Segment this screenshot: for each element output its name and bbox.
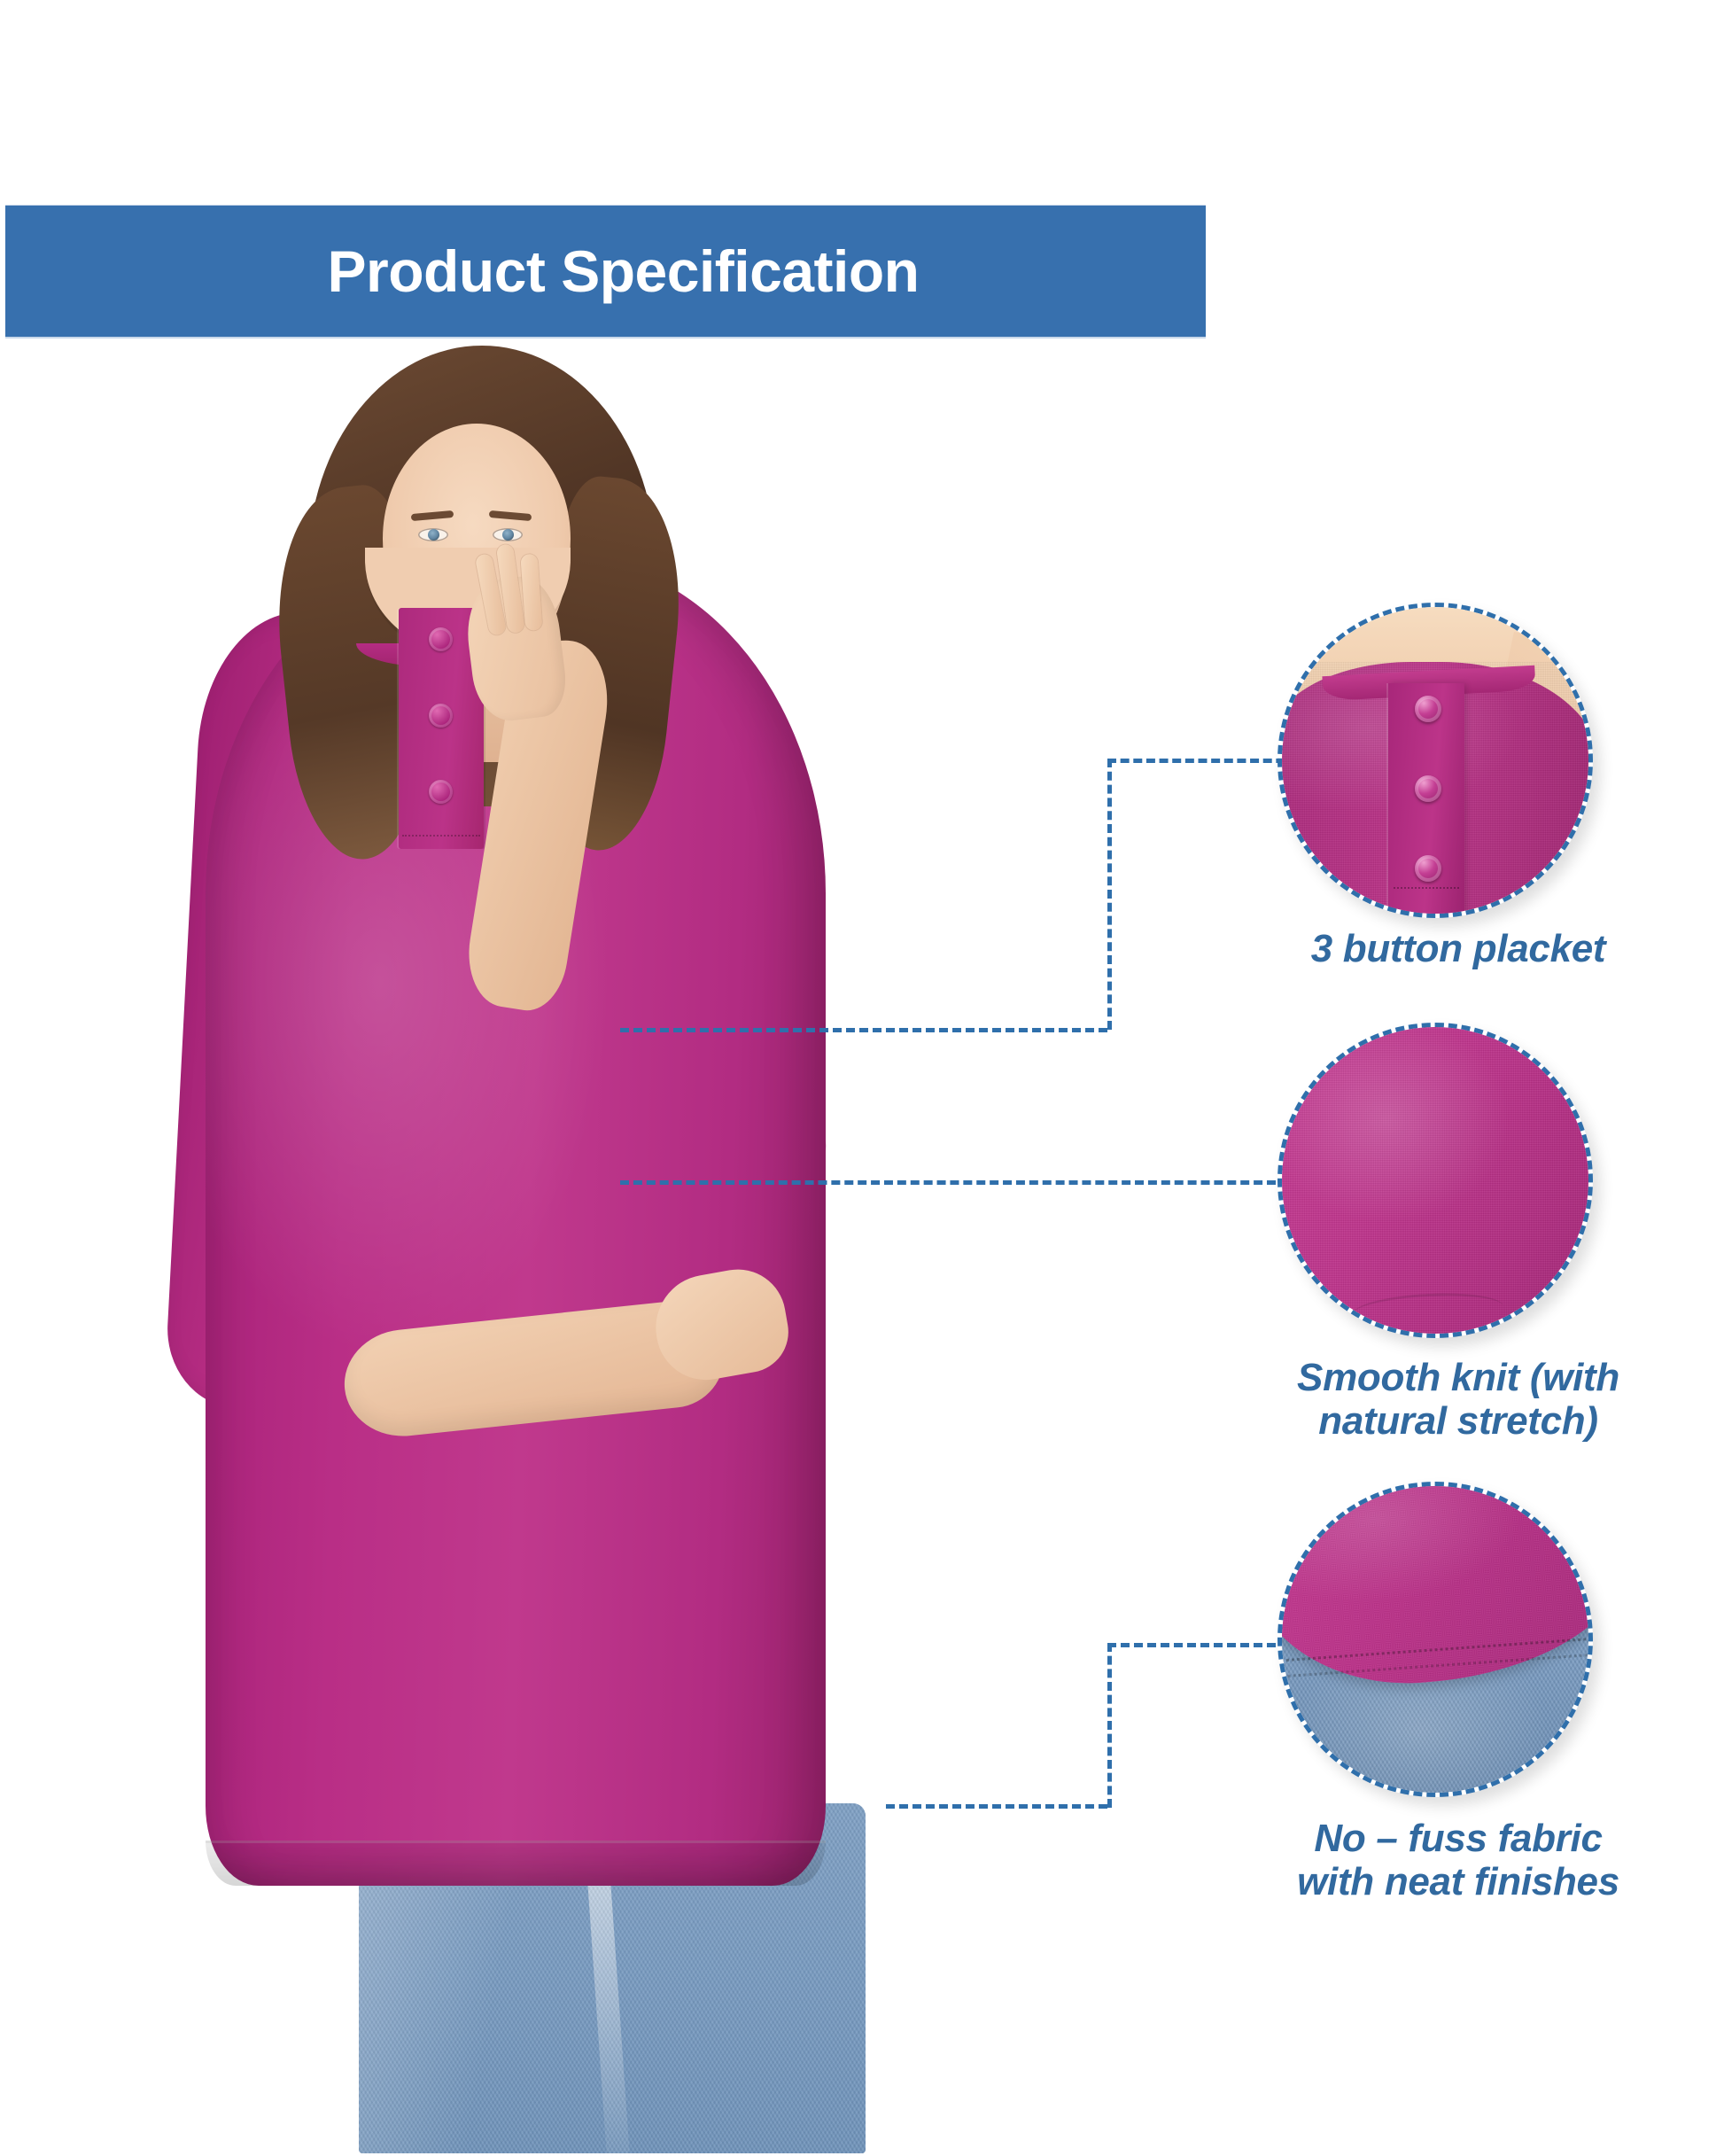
eye-right — [493, 528, 523, 541]
button-2 — [429, 704, 453, 728]
button-1 — [1415, 696, 1441, 722]
leader-line-finish-vertical — [1107, 1643, 1112, 1808]
placket-stitch — [402, 835, 480, 837]
button-3 — [1415, 855, 1441, 882]
leader-line-finish-horizontal-upper — [1107, 1643, 1302, 1647]
detail-circle-placket — [1277, 603, 1593, 918]
placket-strip — [1388, 683, 1464, 914]
button-3 — [429, 780, 453, 804]
leader-line-placket-vertical — [1107, 759, 1112, 1030]
leader-line-placket-horizontal-lower — [620, 1028, 1107, 1032]
detail-circle-knit — [1277, 1023, 1593, 1338]
leader-line-knit-horizontal — [620, 1180, 1276, 1185]
leader-line-placket-horizontal-upper — [1107, 759, 1298, 763]
caption-finish: No – fuss fabric with neat finishes — [1237, 1817, 1680, 1904]
hem-band — [206, 1841, 826, 1886]
caption-knit: Smooth knit (with natural stretch) — [1237, 1356, 1680, 1444]
button-2 — [1415, 775, 1441, 802]
header-banner: Product Specification — [5, 206, 1206, 337]
button-1 — [429, 627, 453, 651]
product-specification-infographic: Product Specification — [0, 0, 1724, 2156]
eyebrow-left — [411, 510, 454, 521]
knit-swatch — [1282, 1027, 1588, 1334]
model-photo — [177, 346, 1081, 2127]
detail-circle-finish — [1277, 1482, 1593, 1797]
placket-seam — [1394, 887, 1459, 889]
caption-placket: 3 button placket — [1237, 927, 1680, 970]
eyebrow-right — [489, 510, 532, 521]
eye-left — [418, 528, 448, 541]
leader-line-finish-horizontal-lower — [886, 1804, 1107, 1809]
page-title: Product Specification — [5, 242, 1206, 300]
